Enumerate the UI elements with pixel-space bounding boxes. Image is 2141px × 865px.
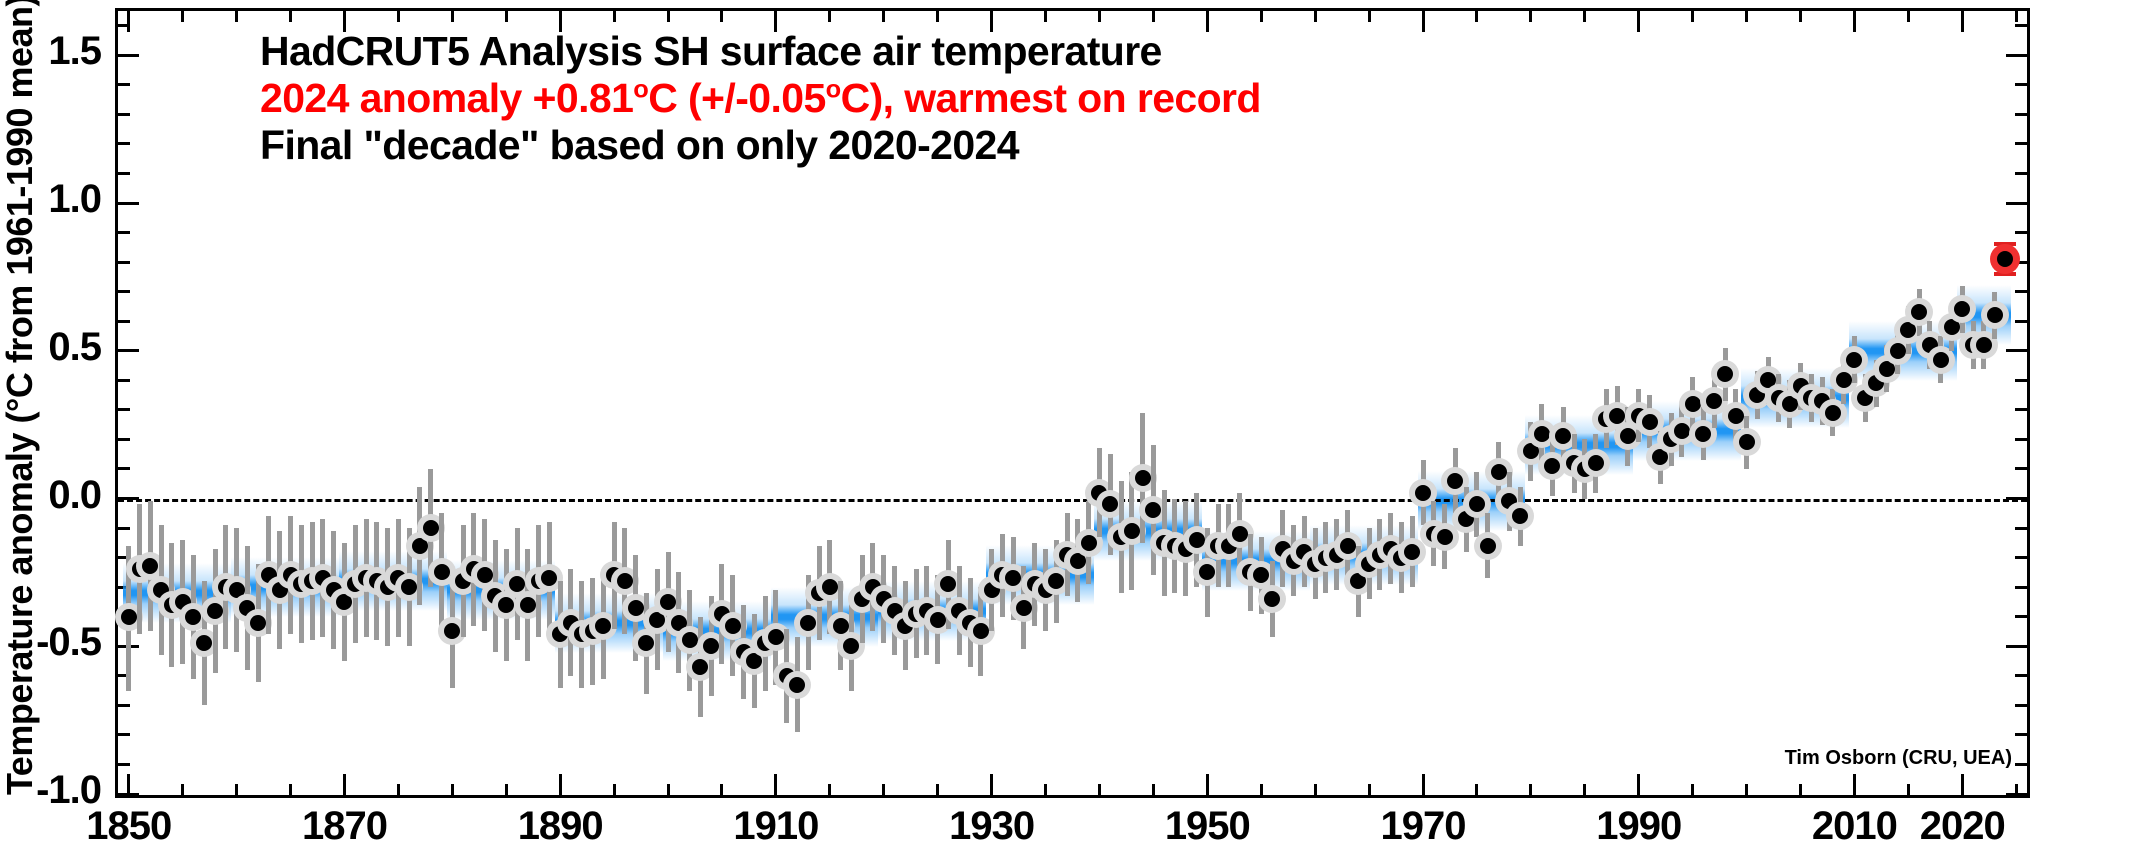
data-point-1887 (520, 597, 536, 613)
x-tick-label-1990: 1990 (1579, 804, 1699, 849)
annotation-line-2: 2024 anomaly +0.81oC (+/-0.05oC), warmes… (260, 75, 1261, 122)
x-tick-label-1930: 1930 (932, 804, 1052, 849)
data-point-2014 (1890, 343, 1906, 359)
data-point-1953 (1232, 526, 1248, 542)
data-point-2023 (1987, 307, 2003, 323)
data-point-1925 (930, 612, 946, 628)
data-point-1995 (1685, 396, 1701, 412)
x-tick-label-2010: 2010 (1794, 804, 1914, 849)
data-point-2010 (1846, 352, 1862, 368)
data-point-1970 (1415, 485, 1431, 501)
data-point-1933 (1016, 600, 1032, 616)
data-point-1915 (822, 579, 838, 595)
data-point-1913 (800, 615, 816, 631)
data-point-2022 (1976, 337, 1992, 353)
attribution-text: Tim Osborn (CRU, UEA) (1785, 747, 2012, 770)
zero-reference-line (118, 499, 2027, 502)
annotation-line-2-part-b: C (+/-0.05 (648, 75, 825, 121)
data-point-1943 (1124, 523, 1140, 539)
x-tick-label-1890: 1890 (500, 804, 620, 849)
x-tick-label-1950: 1950 (1147, 804, 1267, 849)
data-point-2008 (1825, 405, 1841, 421)
data-point-1897 (628, 600, 644, 616)
data-point-1956 (1264, 591, 1280, 607)
data-point-1902 (682, 632, 698, 648)
data-point-1939 (1081, 535, 1097, 551)
data-point-2000 (1739, 434, 1755, 450)
degree-sign-2: o (826, 75, 841, 103)
y-tick-label-1.0: 1.0 (48, 177, 101, 222)
data-point-1906 (725, 618, 741, 634)
data-point-1996 (1695, 426, 1711, 442)
annotation-block: HadCRUT5 Analysis SH surface air tempera… (260, 28, 1261, 169)
x-tick-label-1870: 1870 (284, 804, 404, 849)
x-tick-label-1970: 1970 (1363, 804, 1483, 849)
data-point-1883 (477, 567, 493, 583)
annotation-line-3: Final "decade" based on only 2020-2024 (260, 122, 1261, 169)
data-point-1916 (833, 618, 849, 634)
data-point-1976 (1480, 538, 1496, 554)
data-point-1969 (1404, 544, 1420, 560)
y-tick-label--0.5: -0.5 (36, 620, 101, 665)
y-axis-title-text: Temperature anomaly (°C from 1961-1990 m… (0, 0, 41, 795)
data-point-1894 (595, 618, 611, 634)
data-point-1977 (1491, 464, 1507, 480)
data-point-2009 (1836, 372, 1852, 388)
data-point-1862 (250, 615, 266, 631)
data-point-1986 (1588, 455, 1604, 471)
data-point-1963 (1340, 538, 1356, 554)
data-point-1999 (1728, 408, 1744, 424)
data-point-2018 (1933, 352, 1949, 368)
chart-canvas: HadCRUT5 Analysis SH surface air tempera… (0, 0, 2141, 865)
annotation-line-1: HadCRUT5 Analysis SH surface air tempera… (260, 28, 1261, 75)
x-tick-label-1910: 1910 (716, 804, 836, 849)
y-tick-label-0.0: 0.0 (48, 473, 101, 518)
y-tick-label-1.5: 1.5 (48, 29, 101, 74)
data-point-1879 (434, 564, 450, 580)
annotation-line-2-part-a: 2024 anomaly +0.81 (260, 75, 633, 121)
data-point-1994 (1674, 423, 1690, 439)
data-point-1858 (207, 603, 223, 619)
data-point-1981 (1534, 426, 1550, 442)
data-point-1991 (1642, 414, 1658, 430)
plot-area: HadCRUT5 Analysis SH surface air tempera… (115, 8, 2030, 798)
annotation-line-2-part-c: C), warmest on record (841, 75, 1261, 121)
data-point-1972 (1437, 529, 1453, 545)
data-point-1878 (423, 520, 439, 536)
data-point-1850 (121, 609, 137, 625)
y-axis-title: Temperature anomaly (°C from 1961-1990 m… (0, 0, 46, 790)
x-tick-label-2020: 2020 (1902, 804, 2022, 849)
data-point-1949 (1189, 532, 1205, 548)
y-tick-label-0.5: 0.5 (48, 325, 101, 370)
data-point-1988 (1609, 408, 1625, 424)
data-point-1944 (1135, 470, 1151, 486)
degree-sign-1: o (633, 75, 648, 103)
x-tick-label-1850: 1850 (69, 804, 189, 849)
data-point-1900 (660, 594, 676, 610)
